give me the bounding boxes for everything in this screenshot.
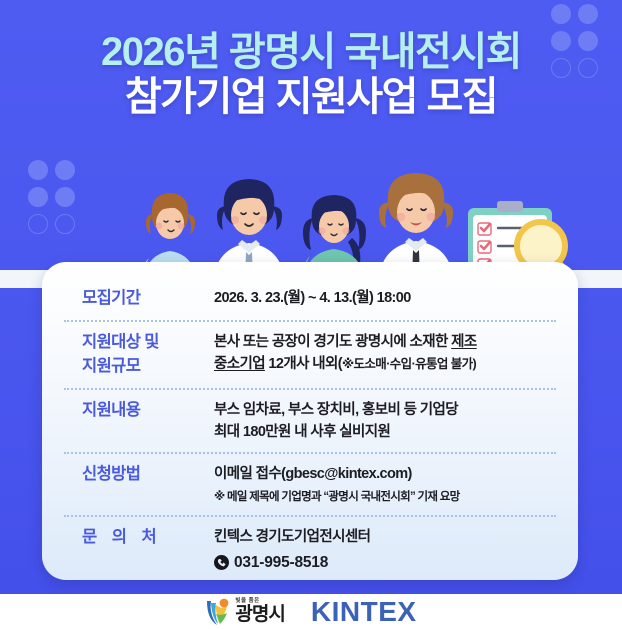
info-row-label-line-2: 지원규모 — [82, 355, 214, 379]
phone-icon — [214, 555, 229, 570]
eligibility-exclusion-note: ※도소매·수입·유통업 불가) — [342, 357, 476, 371]
poster-title: 2026년 광명시 국내전시회 참가기업 지원사업 모집 — [0, 30, 622, 120]
contact-phone-line: 031-995-8518 — [214, 551, 556, 574]
gwangmyeong-city-logo: 빛을 품은 광명시 — [205, 598, 284, 626]
info-row-body: 2026. 3. 23.(월) ~ 4. 13.(월) 18:00 — [214, 287, 556, 310]
info-row-body: 부스 임차료, 부스 장치비, 홍보비 등 기업당 최대 180만원 내 사후 … — [214, 399, 556, 444]
info-row-eligibility: 지원대상 및 지원규모 본사 또는 공장이 경기도 광명시에 소재한 제조 중소… — [64, 320, 556, 388]
contact-phone-number[interactable]: 031-995-8518 — [234, 551, 328, 574]
gwangmyeong-emblem-icon — [205, 598, 231, 626]
info-row-label: 모집기간 — [64, 287, 214, 311]
recruitment-period-value: 2026. 3. 23.(월) ~ 4. 13.(월) 18:00 — [214, 290, 411, 306]
application-note: ※ 메일 제목에 기업명과 “광명시 국내전시회” 기재 요망 — [214, 489, 556, 506]
title-line-1: 2026년 광명시 국내전시회 — [0, 30, 622, 75]
gwangmyeong-text: 빛을 품은 광명시 — [235, 599, 284, 625]
eligibility-emphasis-b: 중소기업 — [214, 356, 265, 372]
info-row-label: 신청방법 — [64, 463, 214, 487]
info-row-label-line-1: 지원대상 및 — [82, 331, 214, 355]
info-row-application-method: 신청방법 이메일 접수(gbesc@kintex.com) ※ 메일 제목에 기… — [64, 452, 556, 515]
info-row-label: 지원내용 — [64, 399, 214, 423]
application-email[interactable]: 이메일 접수(gbesc@kintex.com) — [214, 466, 412, 482]
info-row-contact: 문 의 처 킨텍스 경기도기업전시센터 031-995-8518 — [64, 515, 556, 583]
contact-organization: 킨텍스 경기도기업전시센터 — [214, 529, 370, 545]
gwangmyeong-name: 광명시 — [235, 605, 284, 624]
eligibility-text-b: 12개사 내외( — [265, 356, 342, 372]
footer-logos: 빛을 품은 광명시 KINTEX — [0, 594, 622, 629]
eligibility-emphasis-a: 제조 — [451, 334, 476, 350]
support-details-line-1: 부스 임차료, 부스 장치비, 홍보비 등 기업당 — [214, 402, 458, 418]
info-row-body: 이메일 접수(gbesc@kintex.com) ※ 메일 제목에 기업명과 “… — [214, 463, 556, 506]
dot — [551, 4, 571, 24]
info-row-recruitment-period: 모집기간 2026. 3. 23.(월) ~ 4. 13.(월) 18:00 — [64, 278, 556, 320]
info-row-label: 문 의 처 — [64, 526, 214, 550]
support-amount: 최대 180만원 — [214, 424, 291, 440]
title-line-2: 참가기업 지원사업 모집 — [0, 75, 622, 120]
support-details-line-2: 내 사후 실비지원 — [291, 424, 390, 440]
info-row-label: 지원대상 및 지원규모 — [64, 331, 214, 379]
dot — [578, 4, 598, 24]
info-row-support-details: 지원내용 부스 임차료, 부스 장치비, 홍보비 등 기업당 최대 180만원 … — [64, 388, 556, 453]
poster: 2026년 광명시 국내전시회 참가기업 지원사업 모집 — [0, 0, 622, 629]
info-row-body: 킨텍스 경기도기업전시센터 031-995-8518 — [214, 526, 556, 574]
info-row-body: 본사 또는 공장이 경기도 광명시에 소재한 제조 중소기업 12개사 내외(※… — [214, 331, 556, 376]
kintex-logo: KINTEX — [311, 596, 417, 628]
info-card: 모집기간 2026. 3. 23.(월) ~ 4. 13.(월) 18:00 지… — [42, 262, 578, 580]
eligibility-text-a: 본사 또는 공장이 경기도 광명시에 소재한 — [214, 334, 451, 350]
